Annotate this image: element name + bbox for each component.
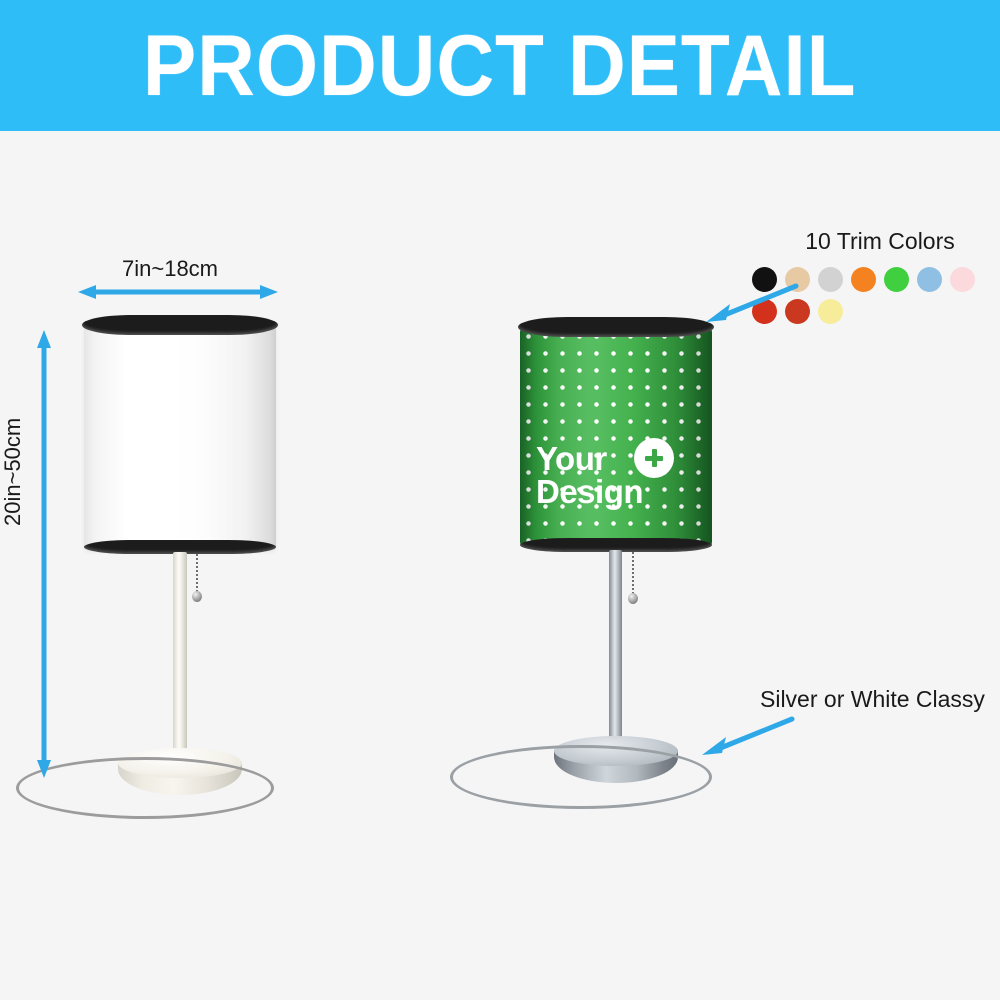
trim-colors-title: 10 Trim Colors [760,228,1000,255]
product-detail-page: PRODUCT DETAIL Your Design [0,0,1000,1000]
green-lampshade-top-trim [518,317,714,337]
white-lampshade-top-trim [82,315,278,335]
white-lamp-pole [173,552,187,772]
trim-colors-pointer-arrow [700,282,800,326]
green-lampshade: Your Design [520,328,712,546]
trim-swatch-pink[interactable] [950,267,975,292]
artwork-line-2: Design [536,476,691,508]
chain-line [632,552,634,596]
width-dimension-arrow [78,282,278,302]
chain-ball [192,591,202,602]
base-finish-label: Silver or White Classy [760,686,985,713]
lampshade-artwork: Your Design [536,443,691,508]
height-dimension-arrow [34,330,54,778]
height-dimension-label: 20in~50cm [0,418,26,526]
trim-swatch-pale-yellow[interactable] [818,299,843,324]
green-polka-dot-lamp: Your Design [420,0,780,900]
trim-swatch-orange[interactable] [851,267,876,292]
trim-swatch-light-gray[interactable] [818,267,843,292]
trim-swatch-light-blue[interactable] [917,267,942,292]
trim-swatch-green[interactable] [884,267,909,292]
lampshade-gloss-overlay [520,328,712,546]
green-lamp-pull-chain[interactable] [632,552,634,596]
white-lampshade [84,326,276,550]
white-lamp-cord-loop [16,757,274,819]
chain-ball [628,593,638,604]
green-lamp-cord-loop [450,745,712,809]
white-lamp-pull-chain[interactable] [196,554,198,594]
chain-line [196,554,198,594]
width-dimension-label: 7in~18cm [122,256,218,282]
green-lamp-pole [609,550,622,758]
base-finish-pointer-arrow [696,715,796,759]
